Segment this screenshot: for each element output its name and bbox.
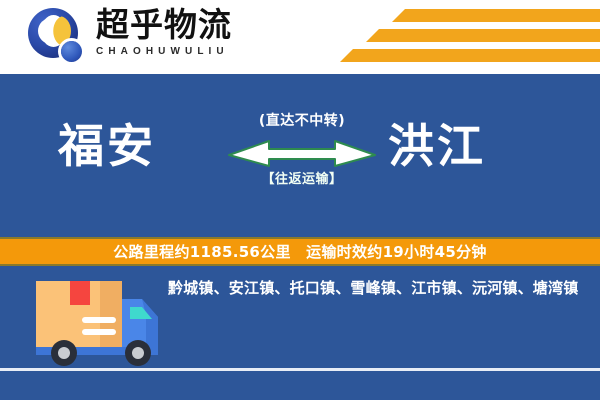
covered-towns-text: 黔城镇、安江镇、托口镇、雪峰镇、江市镇、沅河镇、塘湾镇	[168, 277, 586, 300]
distance-duration-text: 公路里程约1185.56公里 运输时效约19小时45分钟	[113, 241, 486, 262]
route-section: 福安 (直达不中转) 【往返运输】 洪江	[0, 74, 600, 237]
decorative-stripes	[340, 9, 600, 65]
brand-name-en: CHAOHUWULIU	[96, 45, 286, 59]
logistics-route-poster: 超乎物流 CHAOHUWULIU 福安 (直达不中转) 【往返运输】 洪江	[0, 0, 600, 400]
route-middle-block: (直达不中转) 【往返运输】	[222, 112, 382, 188]
direct-shipping-label: (直达不中转)	[222, 112, 382, 130]
road-divider-line	[0, 368, 600, 371]
stripe-2	[366, 29, 600, 42]
double-arrow-icon	[222, 135, 382, 169]
main-blue-panel: 福安 (直达不中转) 【往返运输】 洪江 公路里程约1185.56公里 运输时效…	[0, 74, 600, 400]
brand-name-cn: 超乎物流	[96, 6, 286, 44]
brand-logo-icon	[28, 8, 86, 66]
header-bar: 超乎物流 CHAOHUWULIU	[0, 0, 600, 74]
stripe-1	[392, 9, 600, 22]
logo-dot-shape	[61, 41, 82, 62]
stripe-3	[340, 49, 600, 62]
brand-wordmark: 超乎物流 CHAOHUWULIU	[96, 6, 286, 59]
destination-city-label: 洪江	[388, 118, 486, 174]
roundtrip-label: 【往返运输】	[222, 171, 382, 188]
origin-city-label: 福安	[58, 118, 156, 174]
distance-duration-bar: 公路里程约1185.56公里 运输时效约19小时45分钟	[0, 237, 600, 266]
delivery-truck-icon	[30, 269, 170, 374]
